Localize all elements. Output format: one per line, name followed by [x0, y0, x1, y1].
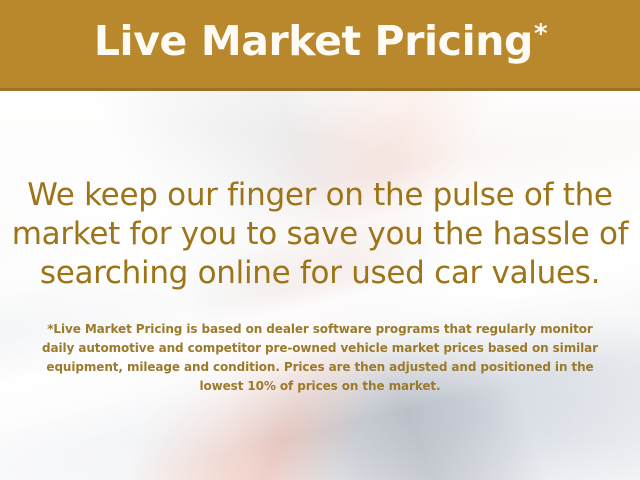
title-asterisk-marker: * — [534, 19, 547, 49]
footnote-disclaimer: *Live Market Pricing is based on dealer … — [0, 320, 640, 396]
footnote-line: *Live Market Pricing is based on dealer … — [0, 320, 640, 339]
footnote-line: daily automotive and competitor pre-owne… — [0, 339, 640, 358]
headline-copy: We keep our finger on the pulse of the m… — [0, 176, 640, 293]
page-title: Live Market Pricing* — [94, 21, 546, 62]
headline-copy-line: market for you to save you the hassle of — [0, 215, 640, 254]
footnote-line: lowest 10% of prices on the market. — [0, 377, 640, 396]
headline-copy-line: searching online for used car values. — [0, 254, 640, 293]
marketing-slide: Live Market Pricing* We keep our finger … — [0, 0, 640, 480]
header-banner: Live Market Pricing* — [0, 0, 640, 91]
footnote-line: equipment, mileage and condition. Prices… — [0, 358, 640, 377]
page-title-text: Live Market Pricing — [94, 17, 533, 65]
headline-copy-line: We keep our finger on the pulse of the — [0, 176, 640, 215]
